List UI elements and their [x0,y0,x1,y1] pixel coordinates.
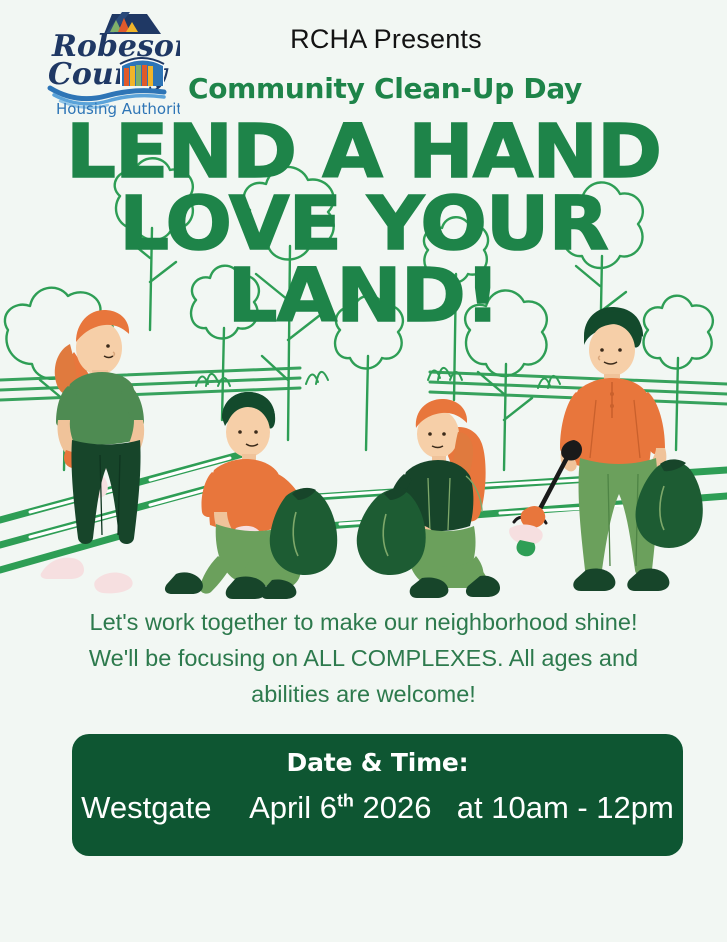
event-time: at 10am - 12pm [457,790,674,825]
day-suffix: th [337,791,354,811]
litter-grabber [509,440,582,556]
headline-line-1: LEND A HAND [0,116,727,188]
event-location: Westgate [81,790,211,825]
figure-woman-standing [41,310,144,593]
body-copy: Let's work together to make our neighbor… [63,604,664,712]
figure-woman-kneeling [388,399,500,598]
figure-man-standing [560,307,669,591]
poster: Robeson County Housing Authority RCHA Pr… [0,0,727,942]
date-time-heading: Date & Time: [72,748,683,777]
event-subtitle: Community Clean-Up Day [150,72,620,105]
headline-line-3: LAND! [0,260,727,332]
date-time-box: Date & Time: Westgate April 6th 2026 at … [72,734,683,856]
trash-bag-right-center [357,488,426,575]
date-time-details: Westgate April 6th 2026 at 10am - 12pm [72,790,683,826]
plastic-bottle [82,446,141,498]
event-year: 2026 [363,790,432,825]
trash-bag-center [270,488,337,575]
trash-bag-far-right [636,459,703,548]
presents-label: RCHA Presents [186,24,586,55]
headline: LEND A HAND LOVE YOUR LAND! [0,116,727,332]
figure-man-kneeling [165,392,322,599]
headline-line-2: LOVE YOUR [0,188,727,260]
event-month-day: April 6 [249,790,337,825]
